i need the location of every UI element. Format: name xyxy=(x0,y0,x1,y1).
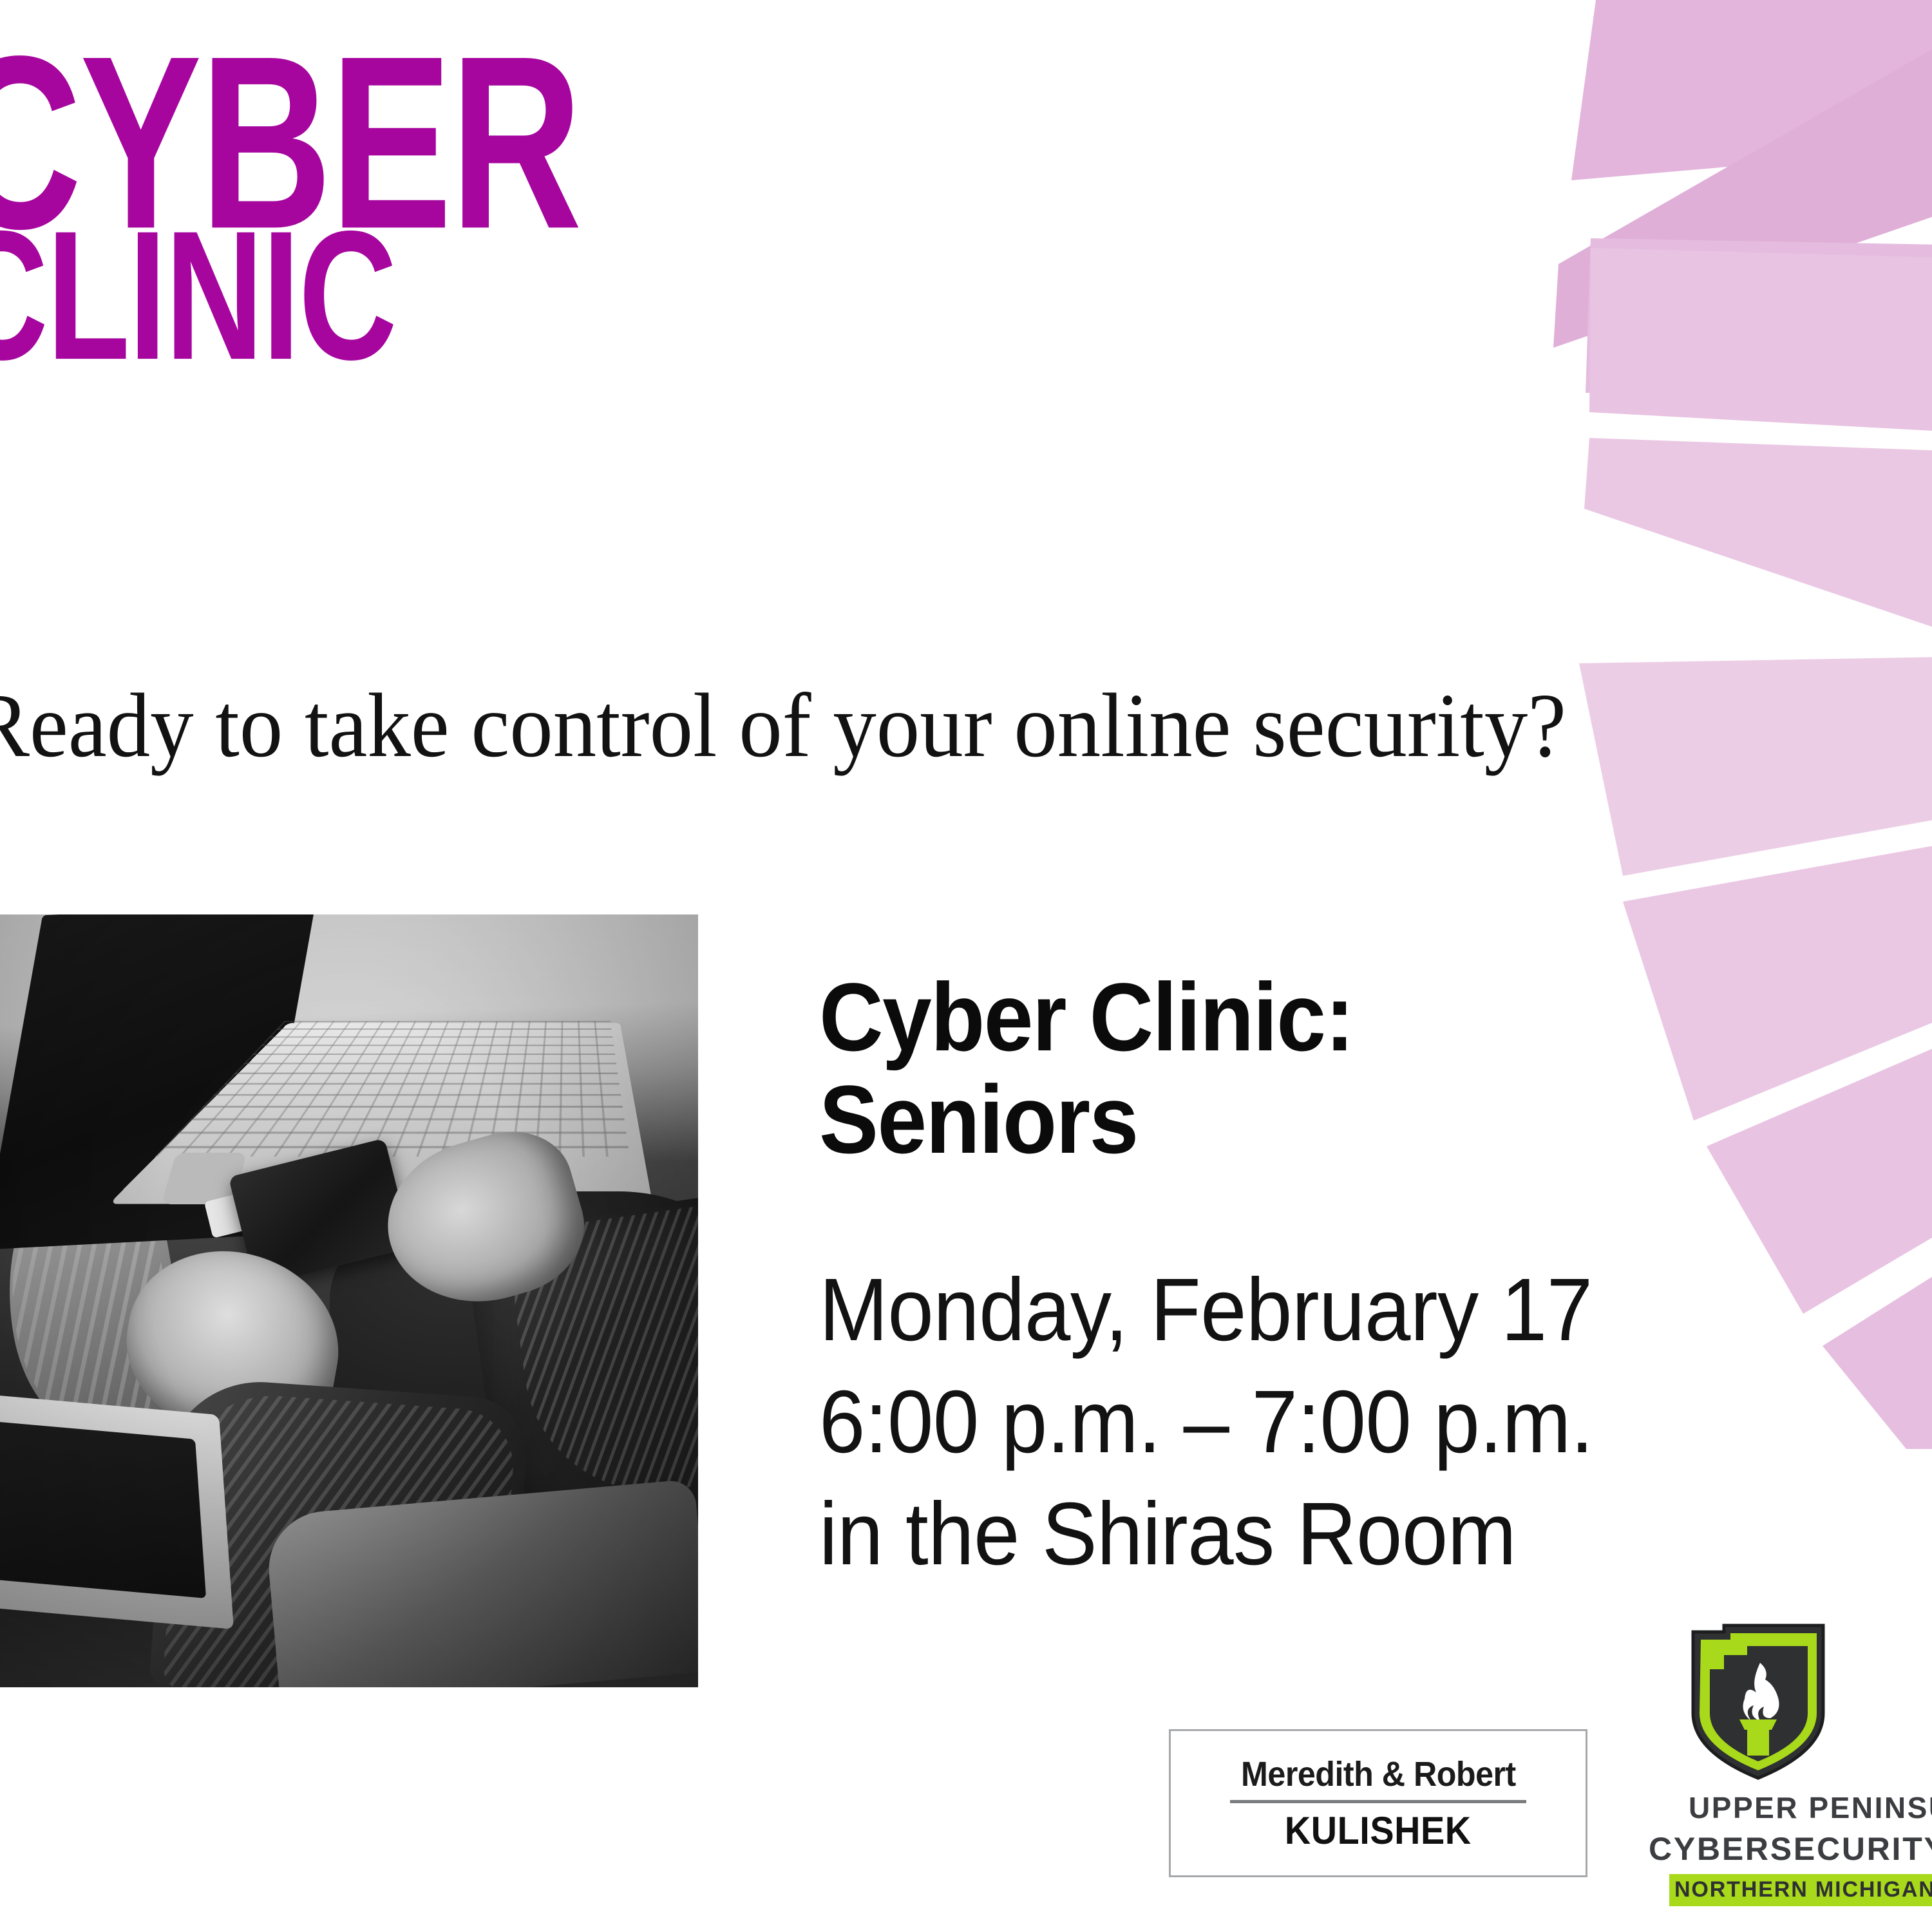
fan-wedge-6 xyxy=(1589,248,1932,431)
event-date: Monday, February 17 xyxy=(819,1255,1718,1367)
poster-headline: CYBER CLINIC xyxy=(0,44,980,350)
seniors-technology-photo xyxy=(0,914,698,1687)
fan-wedge-5 xyxy=(1586,238,1932,393)
kulishek-top-line: Meredith & Robert xyxy=(1241,1754,1516,1794)
kulishek-divider xyxy=(1230,1800,1526,1803)
fan-wedge-10 xyxy=(1707,1043,1932,1314)
fan-wedge-7 xyxy=(1584,438,1932,631)
event-title-line-1: Cyber Clinic: xyxy=(819,966,1560,1068)
event-title: Cyber Clinic: Seniors xyxy=(819,966,1560,1171)
upci-line-2: CYBERSECURITY INSTITUTE xyxy=(1649,1830,1932,1868)
shield-flame-icon xyxy=(1684,1623,1832,1781)
upci-line-1: UPPER PENINSULA xyxy=(1689,1790,1932,1825)
event-location: in the Shiras Room xyxy=(819,1479,1718,1591)
fan-wedge-4 xyxy=(1553,42,1932,348)
photo-vignette xyxy=(0,914,698,1687)
upci-logo-text: UPPER PENINSULA CYBERSECURITY INSTITUTE … xyxy=(1649,1790,1932,1906)
event-title-line-2: Seniors xyxy=(819,1068,1560,1171)
upci-logo: UPPER PENINSULA CYBERSECURITY INSTITUTE … xyxy=(1649,1623,1932,1926)
event-poster: CYBER CLINIC Ready to take control of yo… xyxy=(0,0,1932,1932)
headline-line-clinic: CLINIC xyxy=(0,223,836,370)
upci-line-3: NORTHERN MICHIGAN UNIVERSITY xyxy=(1669,1874,1932,1906)
fan-wedge-2 xyxy=(1594,6,1932,171)
fan-wedge-11 xyxy=(1823,1269,1932,1449)
kulishek-bottom-line: KULISHEK xyxy=(1285,1808,1472,1853)
tagline-text: Ready to take control of your online sec… xyxy=(0,677,1868,773)
event-details: Monday, February 17 6:00 p.m. – 7:00 p.m… xyxy=(819,1255,1718,1591)
fan-wedge-3 xyxy=(1597,3,1932,193)
fan-wedge-1 xyxy=(1571,0,1932,180)
kulishek-sponsor-logo: Meredith & Robert KULISHEK xyxy=(1169,1729,1587,1877)
event-time: 6:00 p.m. – 7:00 p.m. xyxy=(819,1367,1718,1479)
fan-wedge-9 xyxy=(1623,844,1932,1121)
